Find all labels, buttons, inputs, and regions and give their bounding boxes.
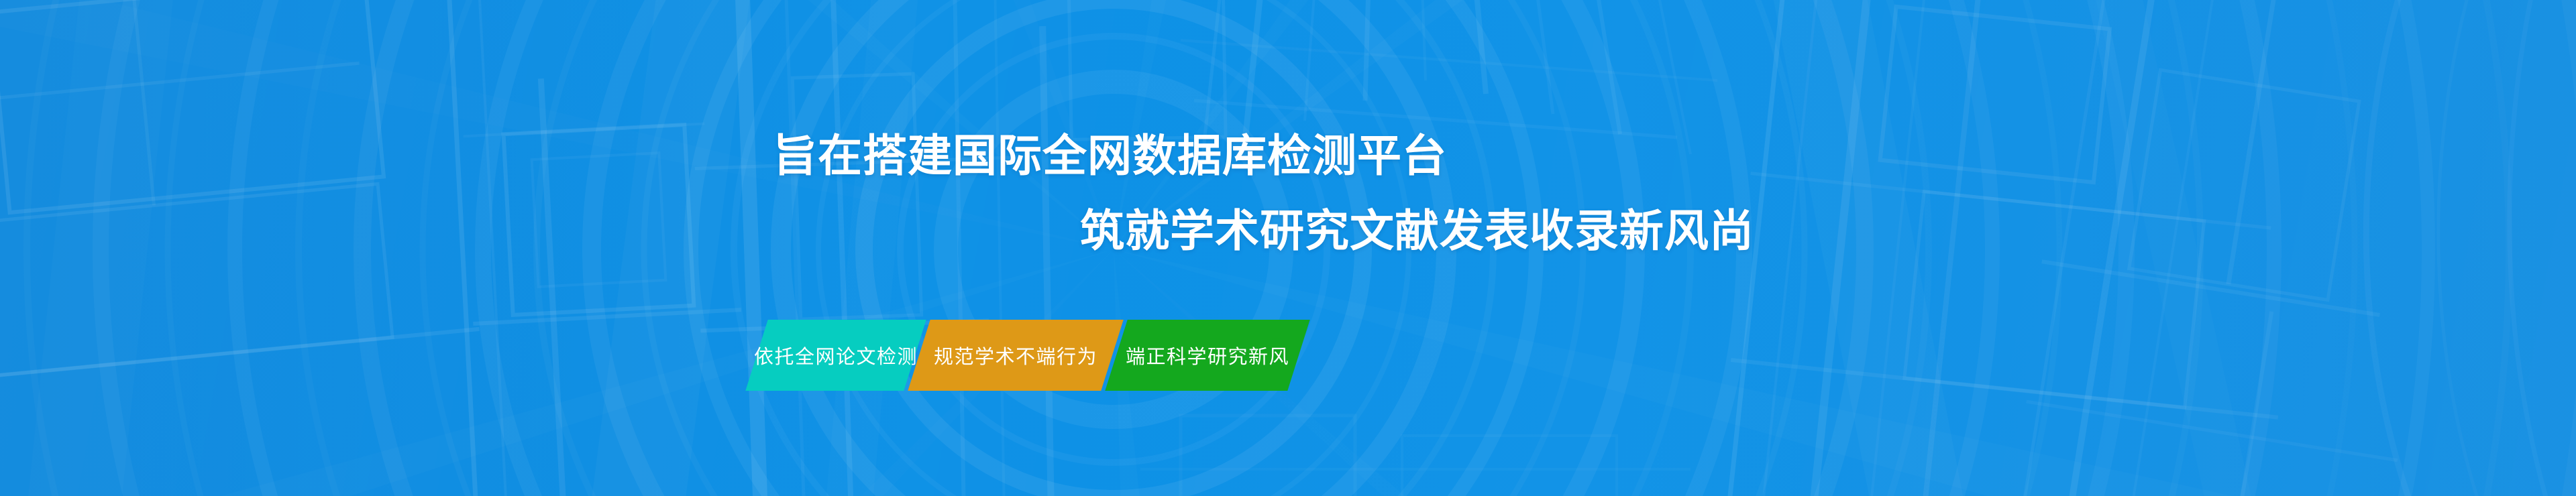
hero-banner: 旨在搭建国际全网数据库检测平台 筑就学术研究文献发表收录新风尚 依托全网论文检测… (0, 0, 2576, 496)
feature-tag-research-integrity[interactable]: 端正科学研究新风 (1105, 320, 1309, 391)
headline-line-2: 筑就学术研究文献发表收录新风尚 (1080, 206, 1754, 255)
headline-line-1: 旨在搭建国际全网数据库检测平台 (773, 131, 1447, 180)
feature-tag-label: 端正科学研究新风 (1126, 341, 1289, 369)
feature-tag-misconduct-regulation[interactable]: 规范学术不端行为 (908, 320, 1123, 391)
feature-tag-label: 规范学术不端行为 (934, 341, 1097, 369)
feature-tag-strip: 依托全网论文检测 规范学术不端行为 端正科学研究新风 (757, 320, 1299, 391)
feature-tag-paper-detection[interactable]: 依托全网论文检测 (745, 320, 926, 391)
feature-tag-label: 依托全网论文检测 (754, 341, 918, 369)
